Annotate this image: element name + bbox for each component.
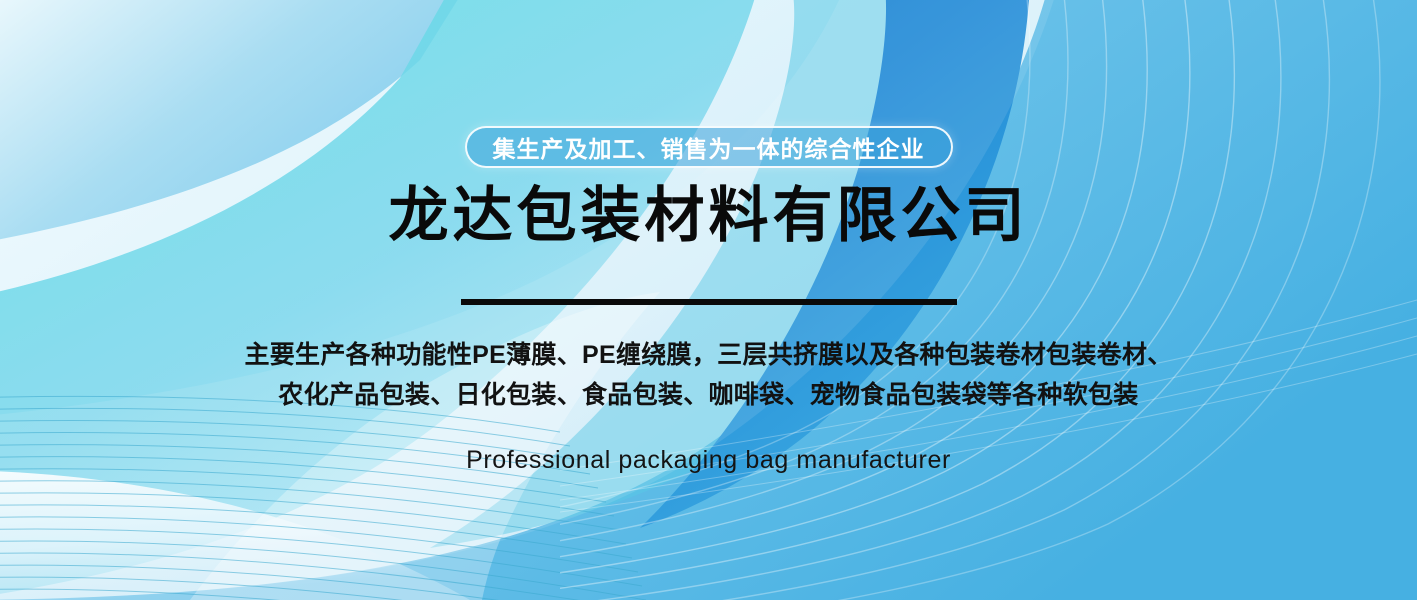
tagline-pill: 集生产及加工、销售为一体的综合性企业 <box>465 126 953 168</box>
description-line-2: 农化产品包装、日化包装、食品包装、咖啡袋、宠物食品包装袋等各种软包装 <box>244 375 1172 416</box>
english-tagline: Professional packaging bag manufacturer <box>466 446 951 475</box>
title-underline-rule <box>461 299 957 305</box>
description-line-1: 主要生产各种功能性PE薄膜、PE缠绕膜，三层共挤膜以及各种包装卷材包装卷材、 <box>244 335 1172 376</box>
description-block: 主要生产各种功能性PE薄膜、PE缠绕膜，三层共挤膜以及各种包装卷材包装卷材、 农… <box>244 335 1172 416</box>
banner-content: 集生产及加工、销售为一体的综合性企业 龙达包装材料有限公司 主要生产各种功能性P… <box>0 0 1417 600</box>
promotional-banner: 集生产及加工、销售为一体的综合性企业 龙达包装材料有限公司 主要生产各种功能性P… <box>0 0 1417 600</box>
page-title: 龙达包装材料有限公司 <box>389 184 1029 249</box>
